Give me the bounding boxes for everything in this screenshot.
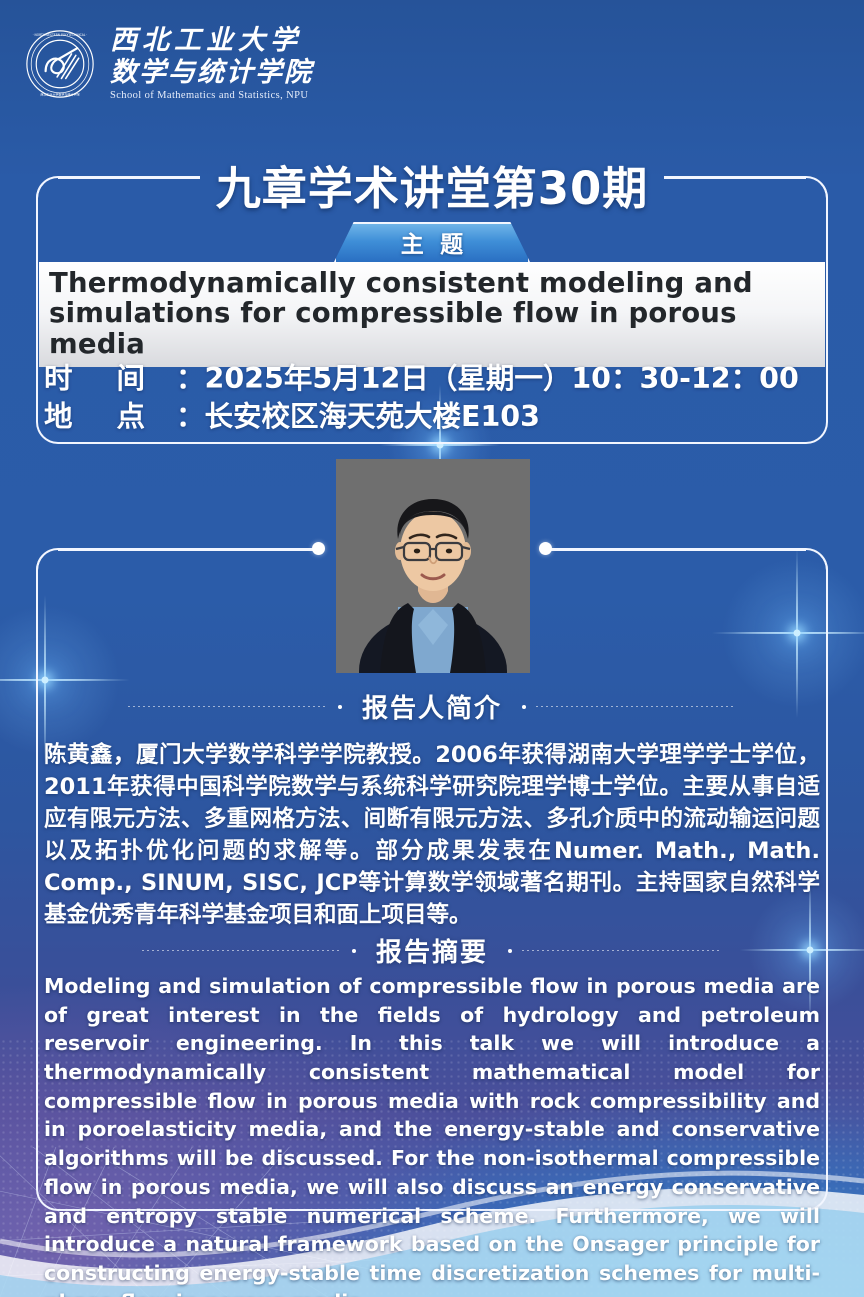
content-panel-rail-right bbox=[546, 548, 806, 551]
bio-section-heading: 报告人简介 bbox=[0, 688, 864, 725]
event-place-row: 地点 ：长安校区海天苑大楼E103 bbox=[44, 398, 824, 436]
divider-line-right bbox=[522, 950, 722, 951]
university-logo: · NORTHWESTERN POLYTECHNICAL · 西北工业大学数学与… bbox=[24, 27, 313, 102]
subject-tab-label: 主 题 bbox=[334, 222, 530, 262]
divider-line-left bbox=[128, 706, 328, 707]
poster-root: · NORTHWESTERN POLYTECHNICAL · 西北工业大学数学与… bbox=[0, 0, 864, 1297]
university-name: 西北工业大学 数学与统计学院 School of Mathematics and… bbox=[110, 27, 313, 102]
event-place-value: ：长安校区海天苑大楼E103 bbox=[176, 398, 540, 436]
abstract-heading-text: 报告摘要 bbox=[366, 932, 498, 969]
abstract-section-heading: 报告摘要 bbox=[0, 932, 864, 969]
svg-text:· NORTHWESTERN POLYTECHNICAL ·: · NORTHWESTERN POLYTECHNICAL · bbox=[33, 33, 88, 37]
event-place-label: 地点 bbox=[44, 398, 176, 436]
rail-dot-right-icon bbox=[539, 542, 552, 555]
svg-text:西北工业大学数学与统计学院: 西北工业大学数学与统计学院 bbox=[40, 92, 79, 97]
content-panel-rail-left bbox=[58, 548, 318, 551]
speaker-portrait-photo bbox=[336, 459, 530, 673]
university-name-cn: 西北工业大学 bbox=[110, 27, 313, 54]
school-name-cn: 数学与统计学院 bbox=[110, 59, 313, 86]
rail-dot-left-icon bbox=[312, 542, 325, 555]
bio-text: 陈黄鑫，厦门大学数学科学学院教授。2006年获得湖南大学理学学士学位，2011年… bbox=[44, 740, 820, 932]
event-time-label: 时间 bbox=[44, 360, 176, 398]
event-time-row: 时间 ：2025年5月12日（星期一）10：30-12：00 bbox=[44, 360, 824, 398]
subject-tab: 主 题 bbox=[334, 222, 530, 262]
event-time-value: ：2025年5月12日（星期一）10：30-12：00 bbox=[176, 360, 799, 398]
poster-header: · NORTHWESTERN POLYTECHNICAL · 西北工业大学数学与… bbox=[0, 0, 864, 128]
divider-line-left bbox=[142, 950, 342, 951]
school-name-en: School of Mathematics and Statistics, NP… bbox=[110, 91, 313, 102]
event-series-title: 九章学术讲堂第30期 bbox=[0, 152, 864, 217]
divider-dot-right-icon bbox=[508, 949, 512, 953]
divider-line-right bbox=[536, 706, 736, 707]
portrait-illustration-icon bbox=[336, 459, 530, 673]
divider-dot-left-icon bbox=[338, 705, 342, 709]
event-info-block: 时间 ：2025年5月12日（星期一）10：30-12：00 地点 ：长安校区海… bbox=[44, 360, 824, 435]
university-seal-icon: · NORTHWESTERN POLYTECHNICAL · 西北工业大学数学与… bbox=[24, 28, 96, 100]
divider-dot-left-icon bbox=[352, 949, 356, 953]
abstract-text: Modeling and simulation of compressible … bbox=[44, 972, 820, 1297]
bio-heading-text: 报告人简介 bbox=[352, 688, 512, 725]
talk-title: Thermodynamically consistent modeling an… bbox=[39, 262, 825, 367]
divider-dot-right-icon bbox=[522, 705, 526, 709]
